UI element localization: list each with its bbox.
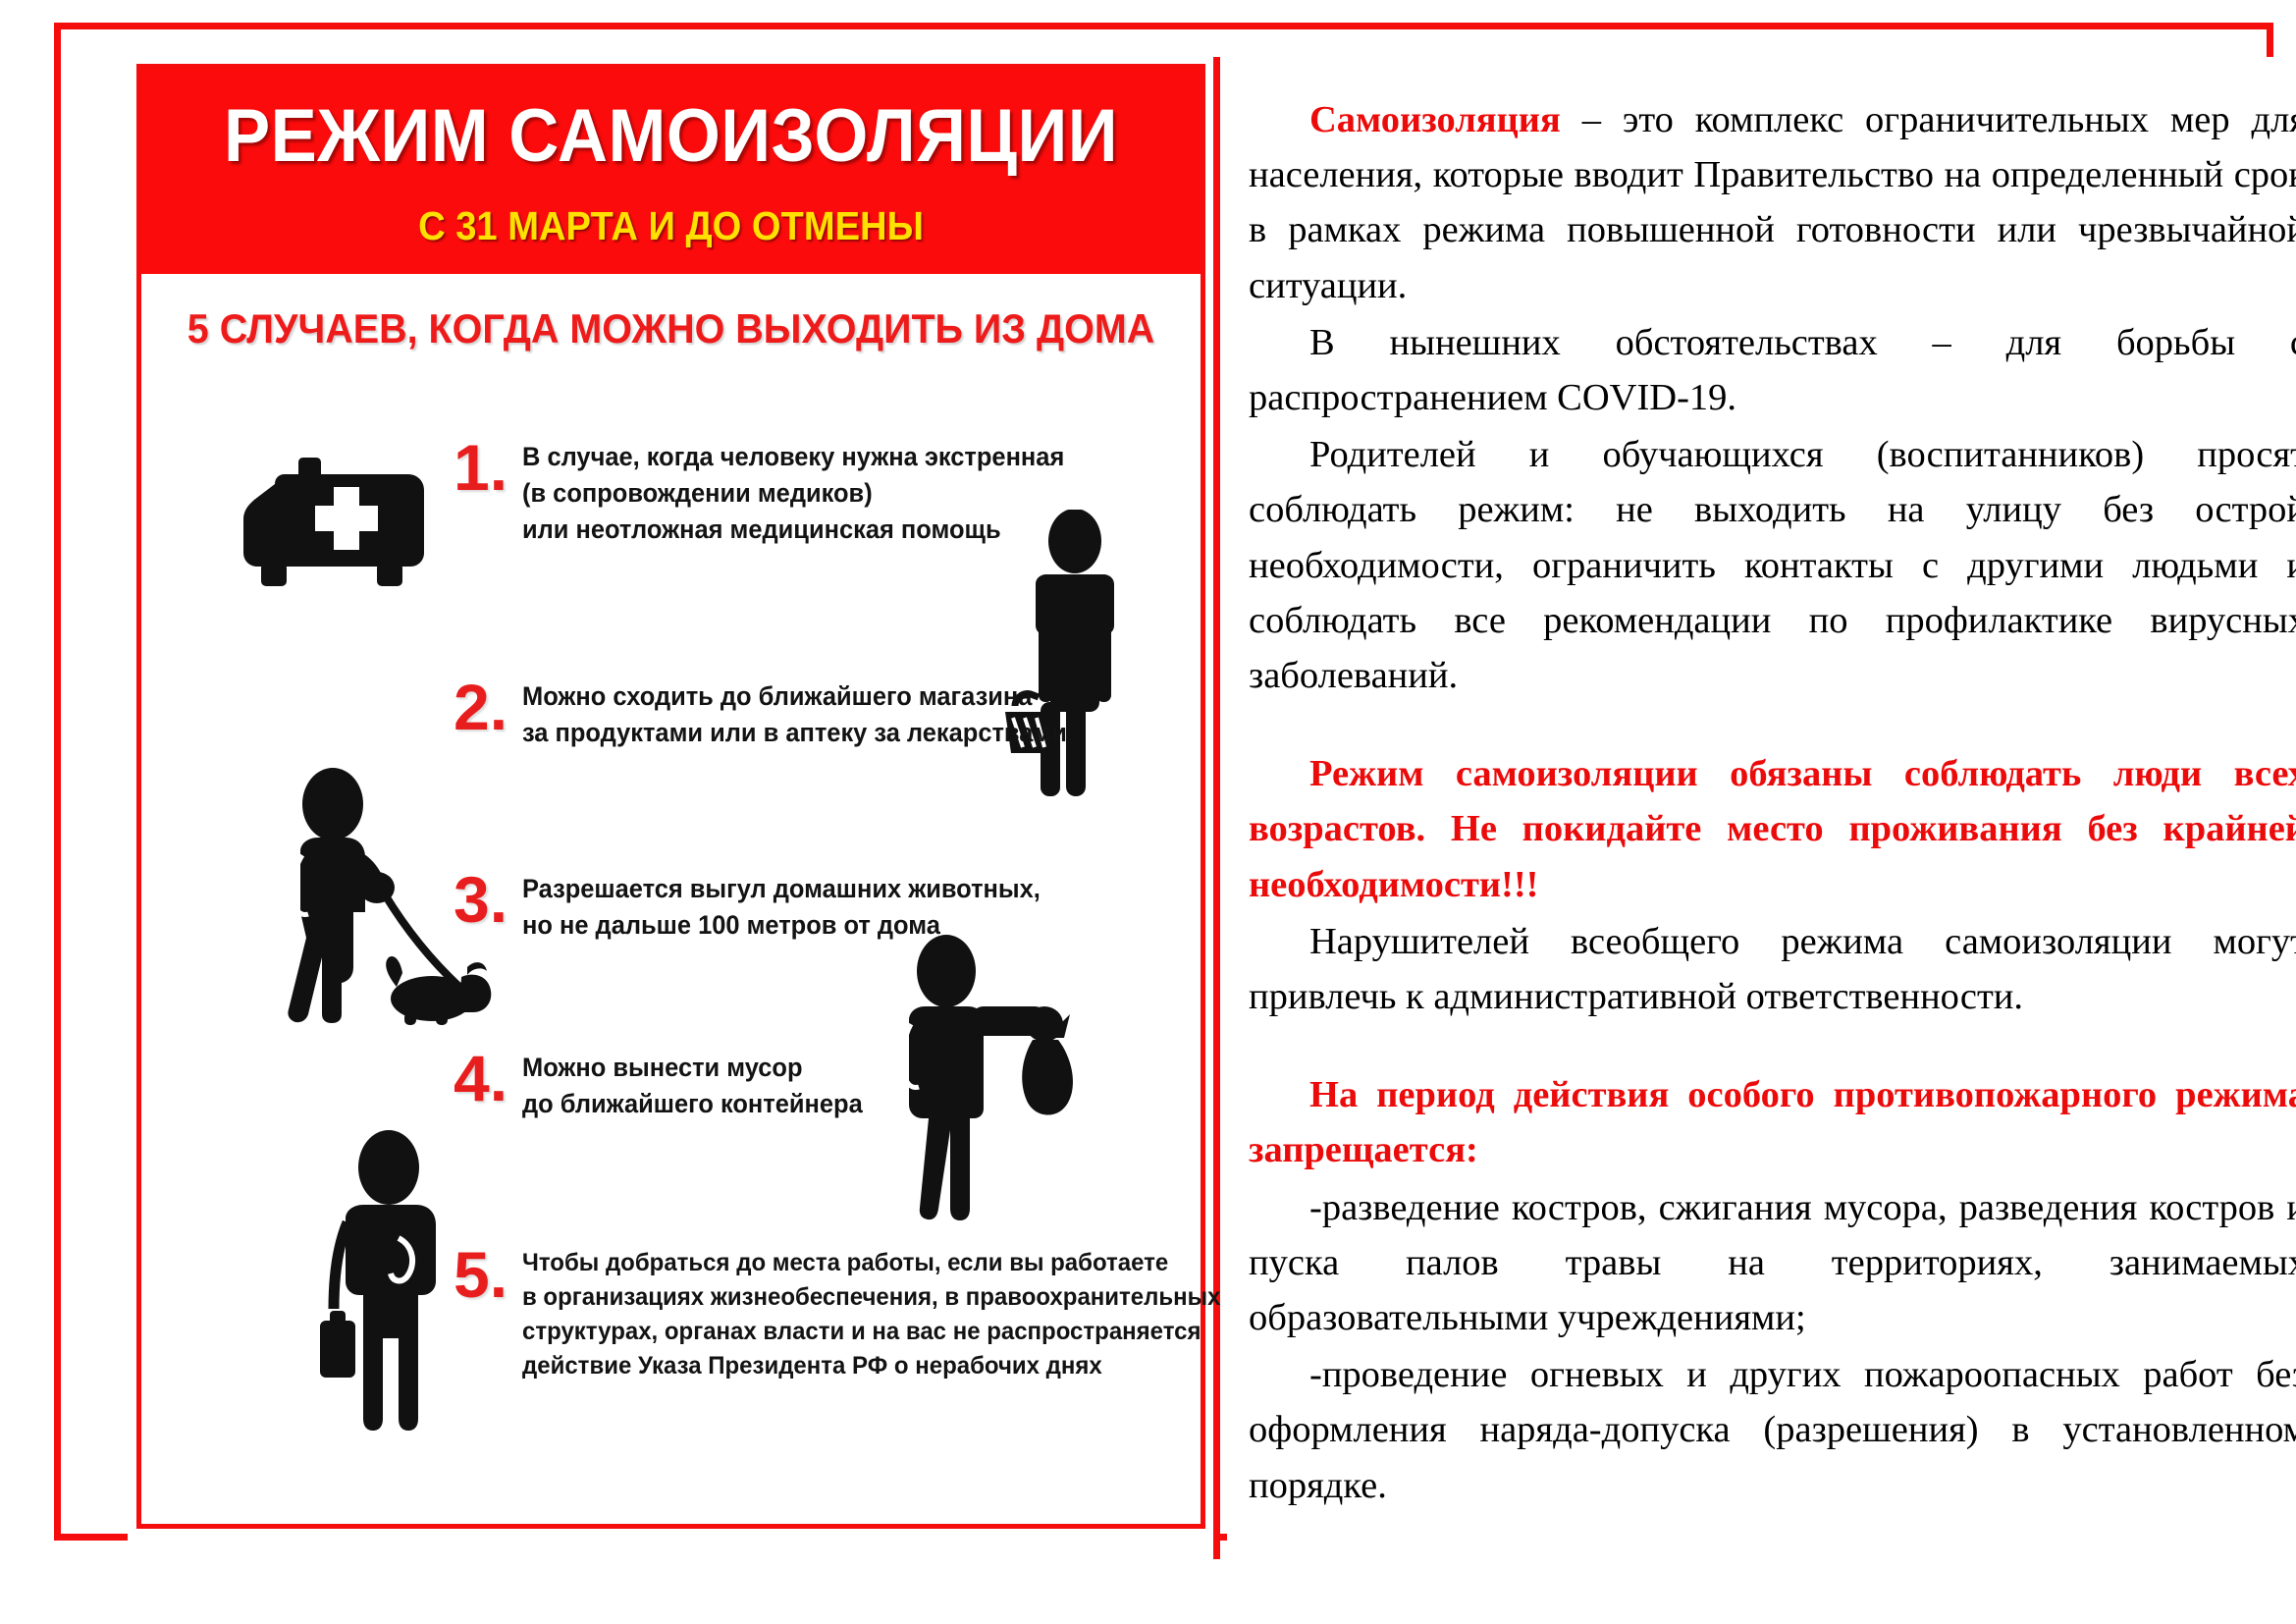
person-with-shopping-basket-icon xyxy=(1003,510,1160,809)
rule-line: Можно сходить до ближайшего магазина xyxy=(522,678,1067,715)
section-heading: 5 СЛУЧАЕВ, КОГДА МОЖНО ВЫХОДИТЬ ИЗ ДОМА xyxy=(173,305,1168,352)
rule-line: В случае, когда человеку нужна экстренна… xyxy=(522,439,1064,475)
rule-text: Чтобы добраться до места работы, если вы… xyxy=(522,1246,1220,1383)
article-paragraph-warning: Режим самоизоляции обязаны соблюдать люд… xyxy=(1249,746,2296,912)
article-paragraph-penalty: Нарушителей всеобщего режима самоизоляци… xyxy=(1249,914,2296,1024)
poster-inner-frame: РЕЖИМ САМОИЗОЛЯЦИИ С 31 МАРТА И ДО ОТМЕН… xyxy=(136,64,1205,1529)
rule-text: В случае, когда человеку нужна экстренна… xyxy=(522,439,1064,548)
article-column: Самоизоляция – это комплекс ограничитель… xyxy=(1227,57,2296,1559)
rule-line: действие Указа Президента РФ о нерабочих… xyxy=(522,1349,1220,1383)
rule-number: 1. xyxy=(454,439,522,497)
ambulance-icon xyxy=(230,441,441,593)
article-paragraph-3: Родителей и обучающихся (воспитанников) … xyxy=(1249,427,2296,703)
rule-line: (в сопровождении медиков) xyxy=(522,475,1064,512)
poster-panel: РЕЖИМ САМОИЗОЛЯЦИИ С 31 МАРТА И ДО ОТМЕН… xyxy=(128,57,1220,1559)
poster-page: РЕЖИМ САМОИЗОЛЯЦИИ С 31 МАРТА И ДО ОТМЕН… xyxy=(0,0,2296,1624)
rule-line: в организациях жизнеобеспечения, в право… xyxy=(522,1280,1220,1315)
article-paragraph-1: Самоизоляция – это комплекс ограничитель… xyxy=(1249,92,2296,313)
rule-row: 5. Чтобы добраться до места работы, если… xyxy=(454,1246,1200,1383)
rule-line: Можно вынести мусор xyxy=(522,1050,863,1086)
poster-subtitle: С 31 МАРТА И ДО ОТМЕНЫ xyxy=(195,204,1148,248)
rule-line: или неотложная медицинская помощь xyxy=(522,512,1064,548)
rule-line: Чтобы добраться до места работы, если вы… xyxy=(522,1246,1220,1280)
poster-body: 5 СЛУЧАЕВ, КОГДА МОЖНО ВЫХОДИТЬ ИЗ ДОМА xyxy=(141,274,1201,1524)
rule-row: 2. Можно сходить до ближайшего магазина … xyxy=(454,678,1141,751)
rule-number: 5. xyxy=(454,1246,522,1304)
rule-text: Можно сходить до ближайшего магазина за … xyxy=(522,678,1067,751)
article-paragraph-2: В нынешних обстоятельствах – для борьбы … xyxy=(1249,315,2296,425)
outer-red-frame: РЕЖИМ САМОИЗОЛЯЦИИ С 31 МАРТА И ДО ОТМЕН… xyxy=(54,23,2273,1541)
rule-number: 3. xyxy=(454,871,522,929)
article-paragraph-fire-item-1: -разведение костров, сжигания мусора, ра… xyxy=(1249,1180,2296,1346)
rule-row: 3. Разрешается выгул домашних животных, … xyxy=(454,871,1141,944)
rule-number: 4. xyxy=(454,1050,522,1108)
poster-header: РЕЖИМ САМОИЗОЛЯЦИИ С 31 МАРТА И ДО ОТМЕН… xyxy=(141,69,1201,274)
rule-line: за продуктами или в аптеку за лекарствам… xyxy=(522,715,1067,751)
rule-number: 2. xyxy=(454,678,522,736)
poster-title: РЕЖИМ САМОИЗОЛЯЦИИ xyxy=(195,98,1148,175)
rule-line: но не дальше 100 метров от дома xyxy=(522,907,1041,944)
rule-line: структурах, органах власти и на вас не р… xyxy=(522,1315,1220,1349)
rule-line: до ближайшего контейнера xyxy=(522,1086,863,1122)
rule-text: Можно вынести мусор до ближайшего контей… xyxy=(522,1050,863,1122)
lead-term: Самоизоляция xyxy=(1309,99,1561,140)
rule-row: 4. Можно вынести мусор до ближайшего кон… xyxy=(454,1050,1141,1122)
article-paragraph-fire-heading: На период действия особого противопожарн… xyxy=(1249,1067,2296,1177)
article-paragraph-fire-item-2: -проведение огневых и других пожароопасн… xyxy=(1249,1347,2296,1513)
rule-line: Разрешается выгул домашних животных, xyxy=(522,871,1041,907)
rule-text: Разрешается выгул домашних животных, но … xyxy=(522,871,1041,944)
rule-row: 1. В случае, когда человеку нужна экстре… xyxy=(454,439,1141,548)
